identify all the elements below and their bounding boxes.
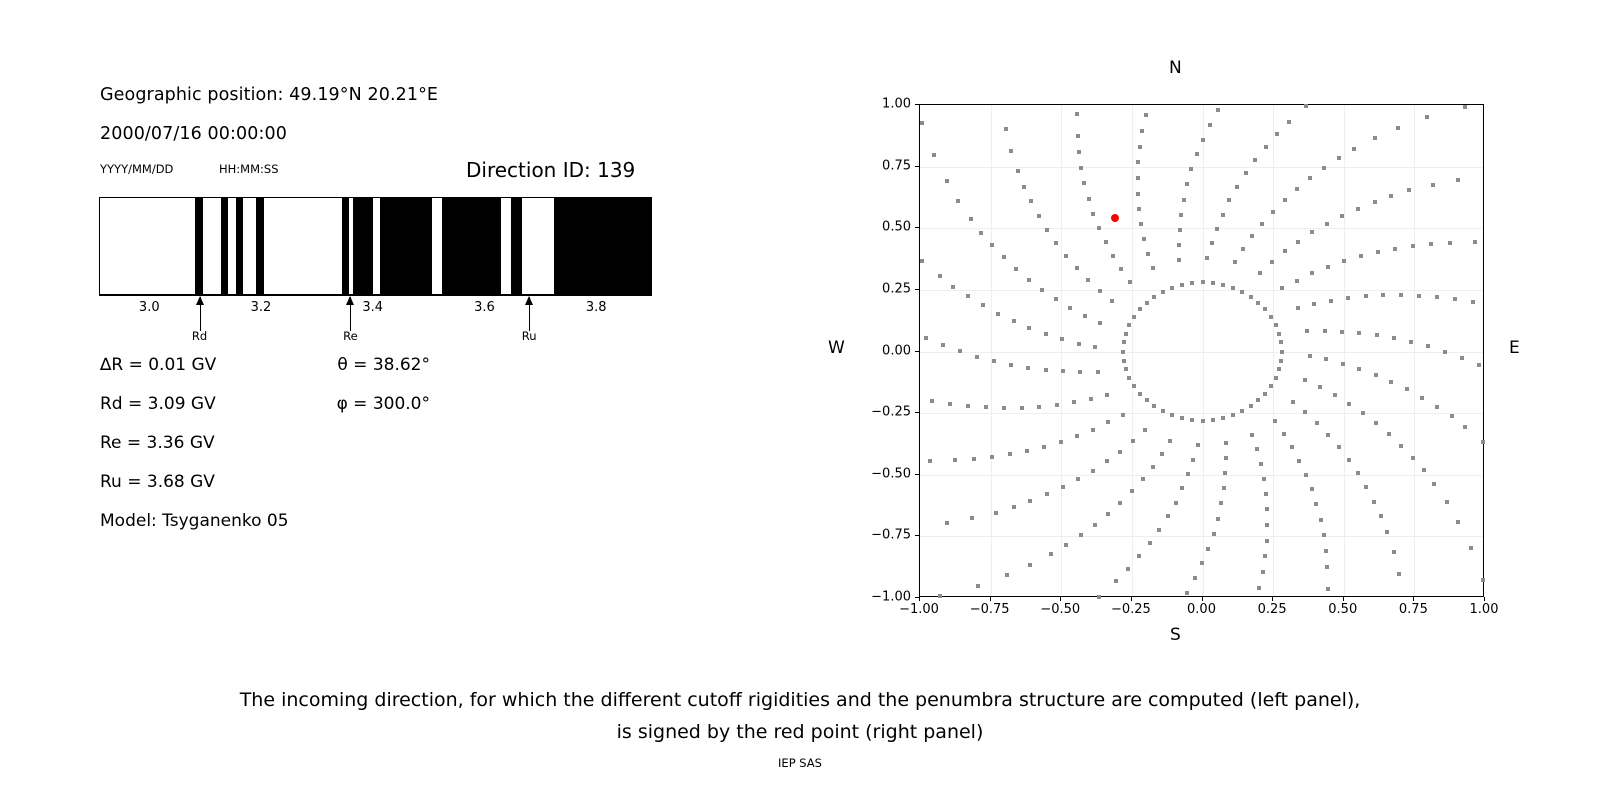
direction-point [1191, 458, 1195, 462]
direction-point [1138, 307, 1142, 311]
direction-point [1265, 507, 1269, 511]
direction-point [1049, 552, 1053, 556]
direction-point [1161, 409, 1165, 413]
direction-point [1273, 419, 1277, 423]
direction-point [1061, 369, 1065, 373]
direction-point [1263, 554, 1267, 558]
sky-y-tick-label: 0.25 [851, 281, 911, 296]
gridline-horizontal [920, 290, 1483, 291]
direction-point [1201, 419, 1205, 423]
direction-point [1473, 240, 1477, 244]
direction-point [1137, 554, 1141, 558]
angle-row: φ = 300.0° [337, 394, 430, 414]
direction-point [1347, 458, 1351, 462]
direction-point [1256, 398, 1260, 402]
direction-point [1124, 367, 1128, 371]
direction-point [1028, 563, 1032, 567]
direction-point [1124, 332, 1128, 336]
direction-point [1139, 222, 1143, 226]
direction-point [1277, 332, 1281, 336]
direction-point [1397, 572, 1401, 576]
direction-point [951, 285, 955, 289]
direction-point [1263, 307, 1267, 311]
direction-point [1012, 319, 1016, 323]
direction-point [1180, 416, 1184, 420]
direction-point [1138, 392, 1142, 396]
direction-point [1009, 363, 1013, 367]
rigidity-marker-label-rd: Rd [192, 329, 207, 343]
direction-point [1453, 297, 1457, 301]
direction-point [1211, 281, 1215, 285]
direction-point [1399, 444, 1403, 448]
direction-point [1364, 485, 1368, 489]
sky-map-panel: N S W E −1.00−0.75−0.50−0.250.000.250.50… [800, 0, 1600, 660]
direction-point [1151, 266, 1155, 270]
rigidity-axis-line [99, 295, 652, 296]
direction-point [930, 399, 934, 403]
direction-point [1179, 213, 1183, 217]
direction-point [1375, 333, 1379, 337]
sky-y-tick-label: 0.50 [851, 220, 911, 235]
direction-point [1322, 166, 1326, 170]
gridline-vertical [1061, 105, 1062, 596]
geographic-position-label: Geographic position: 49.19°N 20.21°E [100, 85, 438, 105]
direction-point [1450, 414, 1454, 418]
direction-point [1182, 198, 1186, 202]
rigidity-marker-label-ru: Ru [522, 329, 537, 343]
direction-point [1215, 227, 1219, 231]
direction-point [1295, 279, 1299, 283]
direction-point [1342, 259, 1346, 263]
direction-point [975, 355, 979, 359]
direction-point [1091, 212, 1095, 216]
direction-point [1166, 514, 1170, 518]
direction-point [1265, 523, 1269, 527]
direction-point [1160, 452, 1164, 456]
direction-point [1297, 459, 1301, 463]
direction-point [1411, 244, 1415, 248]
direction-point [1178, 228, 1182, 232]
parameter-row: Re = 3.36 GV [100, 433, 215, 453]
direction-point [1121, 350, 1125, 354]
direction-point [1222, 486, 1226, 490]
direction-point [1231, 286, 1235, 290]
direction-point [1122, 359, 1126, 363]
direction-point [1205, 256, 1209, 260]
date-format-hint: YYYY/MM/DD [100, 162, 173, 176]
sky-x-tick-mark [1202, 597, 1203, 601]
direction-point [1359, 254, 1363, 258]
direction-point [1469, 546, 1473, 550]
compass-west-label: W [828, 338, 845, 358]
direction-point [1264, 492, 1268, 496]
direction-point [1477, 363, 1481, 367]
direction-point [1004, 127, 1008, 131]
direction-point [1435, 295, 1439, 299]
direction-point [1258, 271, 1262, 275]
direction-point [938, 274, 942, 278]
direction-point [976, 584, 980, 588]
direction-point [1405, 387, 1409, 391]
direction-point [1463, 425, 1467, 429]
direction-point [1357, 331, 1361, 335]
direction-point [992, 359, 996, 363]
direction-point [1392, 336, 1396, 340]
sky-y-tick-mark [915, 474, 919, 475]
direction-point [1111, 254, 1115, 258]
direction-point [1296, 240, 1300, 244]
direction-point [1290, 445, 1294, 449]
direction-point [1196, 443, 1200, 447]
direction-point [1190, 418, 1194, 422]
direction-point [1208, 123, 1212, 127]
direction-point [979, 231, 983, 235]
direction-point [1337, 156, 1341, 160]
direction-point [1025, 449, 1029, 453]
sky-x-tick-label: 1.00 [1470, 602, 1499, 617]
direction-point [1221, 213, 1225, 217]
datetime-label: 2000/07/16 00:00:00 [100, 124, 287, 144]
sky-x-tick-label: −0.50 [1040, 602, 1080, 617]
direction-point [1185, 591, 1189, 595]
direction-point [920, 121, 924, 125]
sky-map-plot-area [919, 104, 1484, 597]
direction-point [1456, 520, 1460, 524]
direction-point [1059, 440, 1063, 444]
direction-point [1429, 242, 1433, 246]
sky-x-tick-mark [1131, 597, 1132, 601]
direction-point [1356, 207, 1360, 211]
direction-point [1314, 502, 1318, 506]
direction-point [1376, 250, 1380, 254]
direction-point [1028, 499, 1032, 503]
direction-point [920, 259, 924, 263]
direction-point [1347, 402, 1351, 406]
direction-point [1027, 326, 1031, 330]
direction-point [1128, 280, 1132, 284]
direction-point [1219, 501, 1223, 505]
direction-point [1190, 281, 1194, 285]
direction-point [1146, 252, 1150, 256]
gridline-vertical [1203, 105, 1204, 596]
direction-point [1282, 432, 1286, 436]
direction-point [1106, 512, 1110, 516]
direction-point [1040, 288, 1044, 292]
direction-point [1283, 249, 1287, 253]
direction-point [1253, 158, 1257, 162]
gridline-horizontal [920, 536, 1483, 537]
direction-point [1105, 393, 1109, 397]
direction-point [1079, 166, 1083, 170]
direction-point [945, 521, 949, 525]
direction-point [1324, 357, 1328, 361]
direction-point [1435, 405, 1439, 409]
direction-point [1077, 150, 1081, 154]
direction-point [966, 404, 970, 408]
penumbra-forbidden-band [511, 198, 522, 294]
direction-point [1223, 471, 1227, 475]
direction-point [1105, 459, 1109, 463]
direction-point [1042, 445, 1046, 449]
compass-south-label: S [1170, 625, 1181, 645]
gridline-horizontal [920, 352, 1483, 353]
direction-point [1399, 293, 1403, 297]
direction-point [1264, 145, 1268, 149]
direction-point [1106, 420, 1110, 424]
direction-point [1216, 108, 1220, 112]
rigidity-marker-arrow-re [350, 297, 351, 331]
direction-point [1357, 367, 1361, 371]
direction-point [1319, 518, 1323, 522]
direction-point [1002, 255, 1006, 259]
direction-point [1142, 237, 1146, 241]
direction-point [1143, 428, 1147, 432]
penumbra-forbidden-band [256, 198, 264, 294]
direction-point [1445, 500, 1449, 504]
direction-point [1346, 296, 1350, 300]
direction-point [981, 303, 985, 307]
direction-point [1249, 404, 1253, 408]
direction-point [1136, 176, 1140, 180]
direction-point [1315, 421, 1319, 425]
direction-point [1180, 486, 1184, 490]
sky-x-tick-label: 0.50 [1328, 602, 1357, 617]
direction-point [1326, 265, 1330, 269]
direction-point [1303, 410, 1307, 414]
direction-point [966, 294, 970, 298]
direction-point [1385, 530, 1389, 534]
direction-point [1396, 126, 1400, 130]
penumbra-forbidden-band [380, 198, 432, 294]
penumbra-forbidden-band [221, 198, 228, 294]
gridline-vertical [991, 105, 992, 596]
direction-point [1189, 167, 1193, 171]
direction-point [1325, 222, 1329, 226]
direction-point [958, 349, 962, 353]
direction-point [1409, 340, 1413, 344]
direction-point [1352, 147, 1356, 151]
direction-point [1448, 241, 1452, 245]
direction-point [1168, 439, 1172, 443]
direction-point [1045, 492, 1049, 496]
direction-point [1152, 295, 1156, 299]
direction-point [1131, 439, 1135, 443]
direction-point [1381, 293, 1385, 297]
direction-point [1026, 366, 1030, 370]
rigidity-marker-label-re: Re [343, 329, 358, 343]
direction-point [1411, 456, 1415, 460]
sky-x-tick-mark [1343, 597, 1344, 601]
direction-point [1029, 199, 1033, 203]
selected-direction-point[interactable] [1111, 214, 1119, 222]
direction-point [1325, 565, 1329, 569]
direction-point [1054, 241, 1058, 245]
direction-point [1122, 340, 1126, 344]
direction-point [1337, 445, 1341, 449]
sky-y-tick-label: 1.00 [851, 97, 911, 112]
sky-y-tick-mark [915, 104, 919, 105]
direction-point [1076, 134, 1080, 138]
sky-y-tick-label: −0.25 [851, 405, 911, 420]
gridline-vertical [1344, 105, 1345, 596]
direction-point [1221, 416, 1225, 420]
gridline-horizontal [920, 167, 1483, 168]
direction-point [1044, 332, 1048, 336]
sky-x-tick-mark [919, 597, 920, 601]
direction-point [948, 402, 952, 406]
figure-caption: The incoming direction, for which the di… [0, 684, 1600, 748]
direction-point [1425, 115, 1429, 119]
direction-point [1422, 468, 1426, 472]
direction-point [1161, 290, 1165, 294]
direction-point [928, 459, 932, 463]
penumbra-forbidden-band [442, 198, 501, 294]
direction-point [1340, 330, 1344, 334]
direction-point [1308, 176, 1312, 180]
direction-point [1068, 306, 1072, 310]
direction-point [1082, 181, 1086, 185]
direction-point [1177, 243, 1181, 247]
direction-point [1261, 570, 1265, 574]
sky-x-tick-mark [1413, 597, 1414, 601]
direction-point [1275, 132, 1279, 136]
sky-y-tick-mark [915, 535, 919, 536]
direction-point [1170, 286, 1174, 290]
direction-point [1077, 342, 1081, 346]
direction-point [1283, 198, 1287, 202]
direction-point [1140, 129, 1144, 133]
direction-point [1259, 462, 1263, 466]
direction-point [1279, 340, 1283, 344]
direction-point [1463, 105, 1467, 109]
direction-point [1373, 136, 1377, 140]
sky-x-tick-label: 0.25 [1258, 602, 1287, 617]
penumbra-panel: Geographic position: 49.19°N 20.21°E 200… [0, 0, 760, 660]
direction-point [1244, 171, 1248, 175]
direction-point [1417, 294, 1421, 298]
direction-point [1078, 370, 1082, 374]
direction-point [1329, 299, 1333, 303]
sky-y-tick-mark [915, 227, 919, 228]
direction-point [1274, 376, 1278, 380]
direction-point [1326, 433, 1330, 437]
direction-point [1005, 573, 1009, 577]
direction-point [1060, 337, 1064, 341]
direction-point [1389, 194, 1393, 198]
direction-point [1098, 321, 1102, 325]
direction-point [1356, 471, 1360, 475]
gridline-horizontal [920, 228, 1483, 229]
direction-point [1118, 450, 1122, 454]
direction-point [1460, 356, 1464, 360]
direction-point [1374, 373, 1378, 377]
gridline-horizontal [920, 475, 1483, 476]
direction-point [1269, 384, 1273, 388]
direction-point [1364, 294, 1368, 298]
parameter-row: Rd = 3.09 GV [100, 394, 216, 414]
direction-point [1333, 393, 1337, 397]
rigidity-tick-label: 3.2 [251, 300, 272, 315]
direction-point [1130, 489, 1134, 493]
direction-point [1304, 473, 1308, 477]
penumbra-forbidden-band [236, 198, 243, 294]
direction-point [1180, 283, 1184, 287]
caption-line-2: is signed by the red point (right panel) [0, 716, 1600, 748]
direction-point [1373, 200, 1377, 204]
direction-point [1312, 302, 1316, 306]
sky-y-tick-mark [915, 351, 919, 352]
direction-point [1262, 477, 1266, 481]
sky-x-tick-mark [1484, 597, 1485, 601]
direction-point [1308, 354, 1312, 358]
direction-point [953, 458, 957, 462]
direction-point [1097, 226, 1101, 230]
penumbra-forbidden-band [195, 198, 203, 294]
direction-point [1241, 247, 1245, 251]
direction-point [1075, 266, 1079, 270]
parameter-row: Model: Tsyganenko 05 [100, 511, 289, 531]
direction-point [1148, 541, 1152, 545]
direction-point [1206, 547, 1210, 551]
direction-point [1240, 409, 1244, 413]
direction-id-label: Direction ID: 139 [466, 158, 635, 182]
sky-x-tick-label: 0.00 [1187, 602, 1216, 617]
direction-point [1271, 210, 1275, 214]
direction-point [1324, 549, 1328, 553]
direction-point [1407, 188, 1411, 192]
direction-point [1323, 329, 1327, 333]
direction-point [938, 594, 942, 598]
direction-point [1255, 447, 1259, 451]
direction-point [1072, 400, 1076, 404]
sky-x-tick-mark [1060, 597, 1061, 601]
direction-point [1265, 539, 1269, 543]
sky-x-tick-label: −0.25 [1111, 602, 1151, 617]
direction-point [1186, 472, 1190, 476]
sky-y-tick-mark [915, 412, 919, 413]
sky-y-tick-label: −0.50 [851, 466, 911, 481]
compass-east-label: E [1509, 338, 1520, 358]
direction-point [1456, 178, 1460, 182]
direction-point [1152, 404, 1156, 408]
direction-point [1016, 169, 1020, 173]
direction-point [994, 511, 998, 515]
penumbra-forbidden-band [342, 198, 349, 294]
direction-point [1045, 228, 1049, 232]
direction-point [1326, 587, 1330, 591]
direction-point [1211, 418, 1215, 422]
direction-point [1137, 207, 1141, 211]
direction-point [1420, 396, 1424, 400]
sky-y-tick-mark [915, 166, 919, 167]
direction-point [1119, 267, 1123, 271]
direction-point [1195, 152, 1199, 156]
direction-point [941, 343, 945, 347]
direction-point [1014, 267, 1018, 271]
angle-row: θ = 38.62° [337, 355, 430, 375]
direction-point [1037, 405, 1041, 409]
direction-point [1231, 413, 1235, 417]
direction-point [1280, 286, 1284, 290]
direction-point [1269, 315, 1273, 319]
direction-point [1274, 323, 1278, 327]
gridline-vertical [1132, 105, 1133, 596]
direction-point [1379, 514, 1383, 518]
direction-point [1126, 567, 1130, 571]
direction-point [1083, 314, 1087, 318]
direction-point [1157, 528, 1161, 532]
direction-point [1374, 421, 1378, 425]
